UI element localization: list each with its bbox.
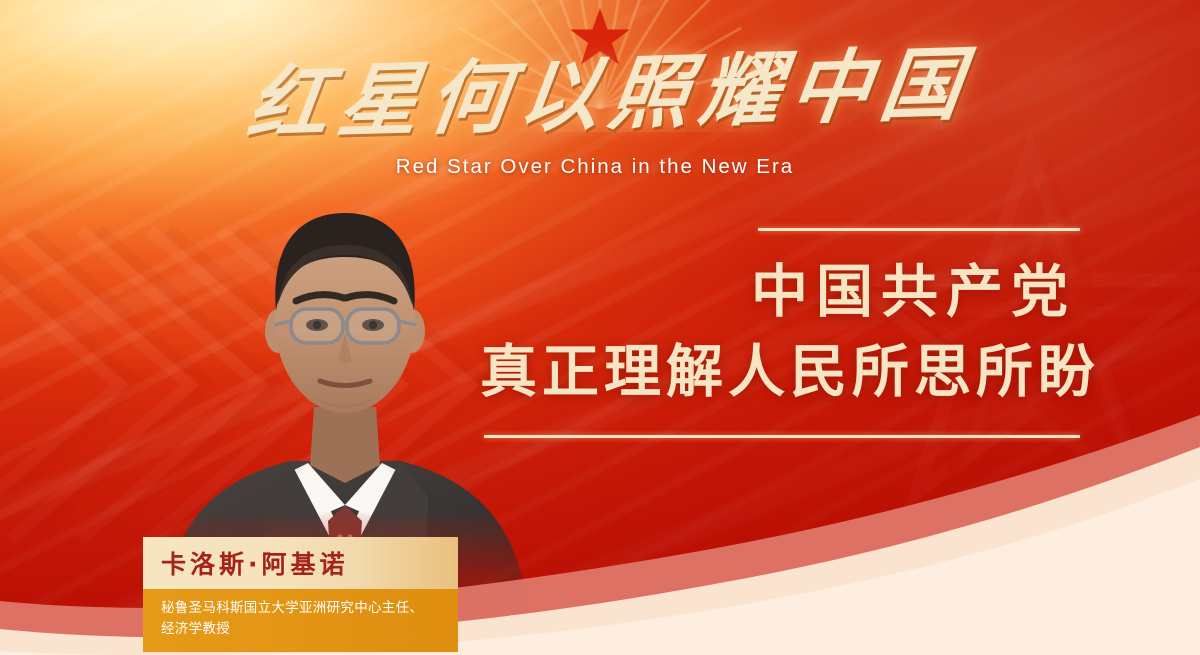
headline-line-2: 真正理解人民所思所盼 (480, 335, 1080, 409)
headline-line-1: 中国共产党 (480, 255, 1080, 329)
speaker-role: 秘鲁圣马科斯国立大学亚洲研究中心主任、 经济学教授 (161, 598, 440, 640)
poster-title-block: 红星何以照耀中国 Red Star Over China in the New … (250, 52, 940, 182)
page-subtitle: Red Star Over China in the New Era (250, 155, 940, 179)
speaker-name-band: 卡洛斯·阿基诺 (143, 537, 458, 589)
speaker-nameplate: 卡洛斯·阿基诺 秘鲁圣马科斯国立大学亚洲研究中心主任、 经济学教授 (143, 537, 458, 652)
page-title: 红星何以照耀中国 (243, 42, 947, 145)
headline-divider-top (758, 228, 1080, 231)
speaker-role-line-1: 秘鲁圣马科斯国立大学亚洲研究中心主任、 (161, 600, 423, 616)
headline-block: 中国共产党 真正理解人民所思所盼 (480, 228, 1080, 438)
speaker-role-line-2: 经济学教授 (161, 619, 440, 640)
speaker-name: 卡洛斯·阿基诺 (161, 545, 349, 581)
speaker-role-band: 秘鲁圣马科斯国立大学亚洲研究中心主任、 经济学教授 (143, 589, 458, 652)
poster-root: 红星何以照耀中国 Red Star Over China in the New … (0, 0, 1200, 655)
headline-divider-bottom (484, 435, 1080, 438)
